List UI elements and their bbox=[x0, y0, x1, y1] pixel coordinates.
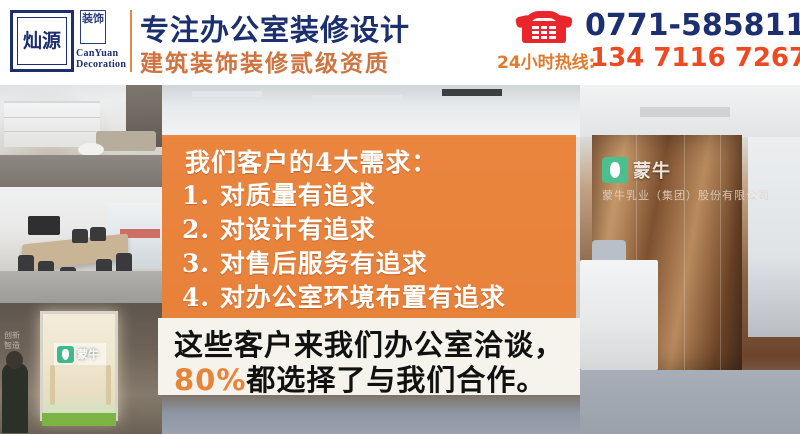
requirement-item-1: 1. 对质量有追求 bbox=[182, 179, 506, 213]
door-handle bbox=[106, 365, 111, 405]
brand-sign-text: 蒙牛 bbox=[77, 346, 99, 362]
reception-copper-wall-photo: 蒙牛 蒙牛乳业（集团）股份有限公司 bbox=[580, 85, 800, 434]
display-shelf bbox=[4, 101, 100, 147]
requirements-title: 我们客户的4大需求： bbox=[185, 143, 437, 179]
mengniu-logo-icon bbox=[602, 157, 628, 183]
logo-latin-line1: CanYuan bbox=[76, 48, 126, 59]
meeting-room-floor bbox=[0, 271, 162, 303]
reception-desk bbox=[580, 260, 658, 370]
reception-window bbox=[748, 137, 800, 337]
requirement-item-3: 3. 对售后服务有追求 bbox=[182, 247, 506, 281]
page-header: 灿源 装饰 CanYuan Decoration 专注办公室装修设计 建筑装饰装… bbox=[0, 0, 800, 85]
header-divider bbox=[130, 10, 132, 72]
brand-sign: 蒙牛 bbox=[54, 343, 106, 365]
person-standing bbox=[2, 363, 28, 433]
conference-chair bbox=[72, 229, 88, 243]
wall-mounted-tv bbox=[28, 216, 60, 235]
showroom-floor bbox=[0, 155, 162, 187]
logo-latin-name: CanYuan Decoration bbox=[76, 48, 126, 70]
office-ceiling-photo bbox=[162, 85, 580, 137]
tagline-secondary: 建筑装饰装修贰级资质 bbox=[140, 44, 390, 78]
telephone-icon bbox=[516, 9, 572, 43]
office-floor-strip-photo bbox=[162, 395, 580, 434]
logo-latin-line2: Decoration bbox=[76, 59, 126, 70]
reception-brand-text: 蒙牛 bbox=[633, 157, 671, 183]
company-logo[interactable]: 灿源 装饰 CanYuan Decoration bbox=[10, 8, 128, 76]
hotline-label: 24小时热线: bbox=[497, 48, 595, 73]
phone-number[interactable]: 0771-5858116 bbox=[585, 8, 800, 43]
conversion-percent: 80% bbox=[174, 363, 246, 397]
lounge-sofa bbox=[96, 131, 156, 151]
conversion-panel: 这些客户来我们办公室洽谈， 80%都选择了与我们合作。 bbox=[158, 318, 580, 395]
mengniu-logo-icon bbox=[57, 346, 74, 363]
requirements-panel: 我们客户的4大需求： 1. 对质量有追求 2. 对设计有追求 3. 对售后服务有… bbox=[162, 135, 576, 318]
office-showroom-photo bbox=[0, 85, 162, 187]
ceiling-panel bbox=[192, 91, 262, 97]
banner-canvas: 灿源 装饰 CanYuan Decoration 专注办公室装修设计 建筑装饰装… bbox=[0, 0, 800, 434]
ceiling-panel bbox=[312, 95, 402, 100]
person-head bbox=[6, 351, 23, 369]
seal-stamp-icon: 灿源 bbox=[10, 10, 74, 72]
reception-brand-subtitle: 蒙牛乳业（集团）股份有限公司 bbox=[602, 187, 770, 203]
hotline-number[interactable]: 134 7116 7267 bbox=[590, 43, 800, 73]
reception-brand-sign: 蒙牛 bbox=[602, 157, 671, 183]
meeting-room-photo bbox=[0, 187, 162, 303]
conference-chair bbox=[90, 227, 106, 241]
telephone-keypad bbox=[532, 26, 556, 39]
requirements-list: 1. 对质量有追求 2. 对设计有追求 3. 对售后服务有追求 4. 对办公室环… bbox=[182, 179, 506, 315]
secondary-seal-icon: 装饰 bbox=[80, 10, 106, 44]
door-handle bbox=[50, 365, 55, 405]
conversion-line-2-rest: 都选择了与我们合作。 bbox=[246, 363, 546, 397]
requirement-item-2: 2. 对设计有追求 bbox=[182, 213, 506, 247]
conversion-line-2: 80%都选择了与我们合作。 bbox=[174, 357, 546, 399]
ceiling-vent bbox=[442, 89, 502, 96]
conference-chair bbox=[116, 253, 132, 273]
seal-characters: 灿源 bbox=[23, 31, 61, 51]
tagline-primary: 专注办公室装修设计 bbox=[140, 7, 410, 49]
ceiling-vent bbox=[640, 107, 730, 117]
grass-strip bbox=[42, 413, 116, 426]
secondary-seal-characters: 装饰 bbox=[80, 10, 106, 44]
photo-collage: 创新智造 蒙牛 蒙牛 蒙牛乳业（集团）股份有限公司 bbox=[0, 85, 800, 434]
reception-floor bbox=[580, 370, 800, 434]
requirement-item-4: 4. 对办公室环境布置有追求 bbox=[182, 281, 506, 315]
wall-decor-text: 创新智造 bbox=[4, 331, 20, 351]
glass-entrance-photo: 创新智造 蒙牛 bbox=[0, 303, 162, 434]
